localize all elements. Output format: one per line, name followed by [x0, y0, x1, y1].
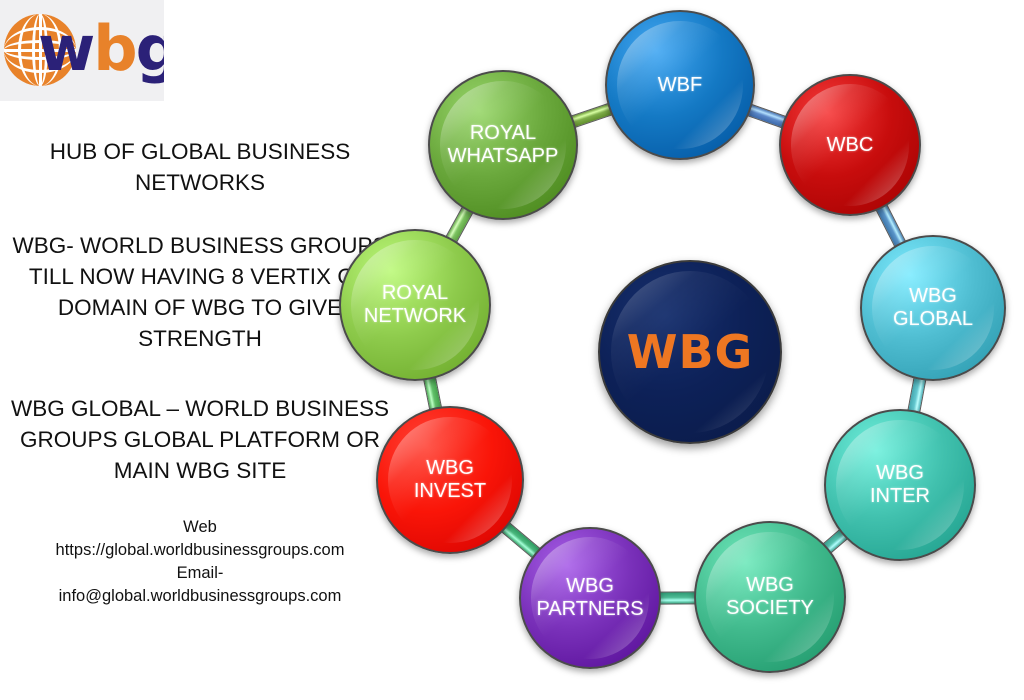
node-royal-network[interactable]: ROYALNETWORK [339, 229, 491, 381]
node-wbg-invest[interactable]: WBGINVEST [376, 406, 524, 554]
node-wbg-partners[interactable]: WBGPARTNERS [519, 527, 661, 669]
node-label: ROYALNETWORK [358, 282, 472, 328]
node-wbg-inter[interactable]: WBGINTER [824, 409, 976, 561]
logo-letter-w: w [38, 12, 93, 85]
node-label: WBC [821, 134, 880, 157]
logo-letter-b: b [93, 12, 135, 85]
node-label: WBGGLOBAL [887, 285, 979, 331]
node-label: WBGINVEST [408, 457, 492, 503]
node-wbc[interactable]: WBC [779, 74, 921, 216]
node-royal-whatsapp[interactable]: ROYALWHATSAPP [428, 70, 578, 220]
node-wbg-society[interactable]: WBGSOCIETY [694, 521, 846, 673]
node-wbf[interactable]: WBF [605, 10, 755, 160]
node-label: WBGPARTNERS [530, 575, 649, 621]
cycle-diagram: WBFWBCWBGGLOBALWBGINTERWBGSOCIETYWBGPART… [340, 0, 1024, 700]
node-label: WBGSOCIETY [720, 574, 820, 620]
wbg-logo: wbg [0, 0, 164, 101]
logo-wordmark: wbg [38, 18, 164, 80]
center-node-label: WBG [627, 325, 754, 379]
node-wbg-global[interactable]: WBGGLOBAL [860, 235, 1006, 381]
node-label: WBF [652, 74, 708, 97]
logo-letter-g: g [136, 12, 164, 85]
node-label: WBGINTER [864, 462, 936, 508]
slide-canvas: wbg HUB OF GLOBAL BUSINESS NETWORKS WBG-… [0, 0, 1024, 700]
node-label: ROYALWHATSAPP [442, 122, 565, 168]
center-node-wbg[interactable]: WBG [598, 260, 782, 444]
